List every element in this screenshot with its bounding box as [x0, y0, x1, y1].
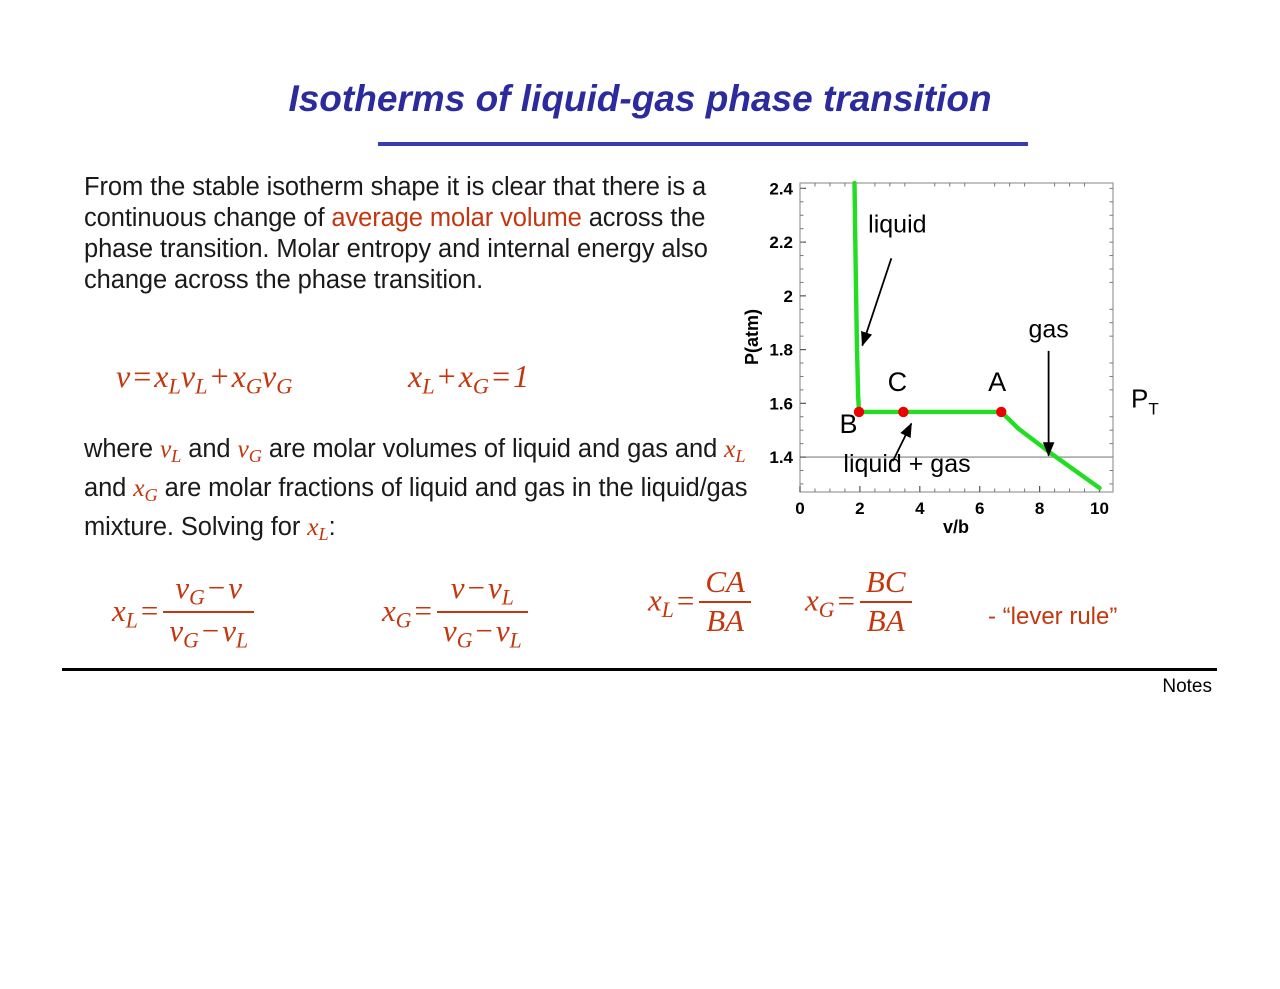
paragraph-definitions: where vL and vG are molar volumes of liq… [84, 433, 764, 550]
eq3-equals: = [138, 593, 161, 628]
x-tick-label: 8 [1035, 499, 1044, 518]
point-label-a: A [988, 367, 1006, 397]
y-axis-label: P(atm) [742, 309, 762, 365]
eq1-x2-sub: G [246, 374, 262, 399]
eq4-den-minus: − [472, 613, 495, 648]
eq3-denominator: vG−vL [163, 613, 254, 654]
eq3-num-vG-sub: G [189, 586, 205, 610]
eq1-v2: v [262, 358, 276, 394]
eq4-den-vG: v [443, 613, 457, 648]
eq5-numerator: CA [699, 564, 751, 603]
eq3-den-vL-sub: L [236, 629, 248, 653]
x-tick-label: 2 [855, 499, 864, 518]
x-tick-label: 6 [975, 499, 984, 518]
page-title: Isotherms of liquid-gas phase transition [0, 78, 1280, 120]
eq5-x: x [648, 583, 662, 618]
equation-xL-volume-fraction: xL=vG−vvG−vL [112, 572, 256, 656]
eq5-denominator: BA [699, 603, 751, 640]
x-tick-label: 0 [795, 499, 804, 518]
point-label-b: B [840, 409, 858, 439]
para2-segment-4: and [84, 474, 133, 502]
x-tick-label: 4 [915, 499, 925, 518]
eq2-one: 1 [513, 358, 529, 394]
eq3-num-minus: − [205, 570, 228, 605]
eq3-den-vG-sub: G [183, 629, 199, 653]
para2-segment-1: where [84, 435, 160, 463]
eq1-v1: v [181, 358, 195, 394]
eq5-x-sub: L [662, 598, 674, 622]
equation-mole-fraction-sum: xL+xG=1 [408, 358, 529, 400]
para2-symbol-vG: v [238, 434, 249, 463]
marker-point-c [898, 407, 908, 417]
eq4-numerator: v−vL [437, 570, 528, 613]
y-tick-label: 2 [784, 287, 793, 306]
eq5-fraction: CABA [699, 564, 751, 639]
eq3-x: x [112, 593, 126, 628]
eq1-x1: x [154, 358, 168, 394]
point-label-c: C [888, 367, 908, 397]
eq2-x2-sub: G [473, 374, 489, 399]
pt-symbol: P [1131, 383, 1148, 413]
lever-rule-caption: - “lever rule” [988, 603, 1117, 631]
para2-symbol-xL: x [724, 434, 735, 463]
eq1-v1-sub: L [195, 374, 207, 399]
para2-symbol-vG-sub: G [249, 446, 262, 466]
eq4-den-vG-sub: G [457, 629, 473, 653]
isotherm-chart: 1.41.61.822.22.4 0246810 BCA liquid gas … [740, 165, 1180, 540]
eq1-x1-sub: L [168, 374, 180, 399]
equation-xL-lever: xL=CABA [648, 566, 753, 641]
eq2-x1: x [408, 358, 422, 394]
eq4-fraction: v−vLvG−vL [437, 570, 528, 654]
eq4-x-sub: G [396, 609, 412, 633]
pt-subscript: T [1148, 399, 1158, 418]
y-tick-label: 1.8 [769, 341, 793, 360]
isotherm-chart-svg: 1.41.61.822.22.4 0246810 BCA liquid gas … [740, 165, 1180, 540]
y-tick-label: 1.4 [769, 448, 793, 467]
eq3-num-v: v [228, 570, 242, 605]
eq4-num-minus: − [465, 570, 488, 605]
para2-symbol-xG: x [133, 473, 144, 502]
eq2-equals: = [489, 358, 513, 394]
eq4-x: x [382, 593, 396, 628]
eq4-equals: = [411, 593, 434, 628]
eq1-equals: = [130, 358, 154, 394]
para2-segment-3: are molar volumes of liquid and gas and [262, 435, 724, 463]
eq6-denominator: BA [860, 603, 912, 640]
x-tick-label: 10 [1090, 499, 1109, 518]
eq1-v: v [116, 358, 130, 394]
eq3-numerator: vG−v [163, 570, 254, 613]
eq6-x-sub: G [819, 598, 835, 622]
eq3-num-vG: v [175, 570, 189, 605]
eq6-fraction: BCBA [860, 564, 912, 639]
x-axis-label: v/b [943, 517, 969, 537]
eq6-numerator: BC [860, 564, 912, 603]
eq4-den-vL-sub: L [510, 629, 522, 653]
annotation-liquid-plus-gas: liquid + gas [843, 450, 970, 478]
y-tick-label: 2.4 [769, 179, 793, 198]
para2-symbol-vL: v [160, 434, 171, 463]
para2-segment-6: : [329, 513, 336, 541]
title-underline-rule [378, 142, 1028, 146]
para2-symbol-xL2: x [307, 512, 318, 541]
equation-xG-lever: xG=BCBA [805, 566, 914, 641]
equation-xG-volume-fraction: xG=v−vLvG−vL [382, 572, 530, 656]
eq2-x1-sub: L [422, 374, 434, 399]
footer-notes-label: Notes [0, 676, 1212, 698]
equation-molar-volume-mixture: v=xLvL+xGvG [116, 358, 292, 400]
eq3-den-vG: v [169, 613, 183, 648]
eq2-plus: + [435, 358, 459, 394]
eq4-den-vL: v [496, 613, 510, 648]
eq4-denominator: vG−vL [437, 613, 528, 654]
eq2-x2: x [459, 358, 473, 394]
eq6-x: x [805, 583, 819, 618]
eq1-plus: + [208, 358, 232, 394]
eq4-num-v: v [451, 570, 465, 605]
marker-point-a [996, 407, 1006, 417]
annotation-liquid: liquid [868, 211, 926, 239]
para2-segment-2: and [181, 435, 237, 463]
para2-symbol-xG-sub: G [144, 485, 157, 505]
eq4-num-vL-sub: L [502, 586, 514, 610]
para2-symbol-xL2-sub: L [318, 524, 328, 544]
eq1-x2: x [232, 358, 246, 394]
para2-symbol-vL-sub: L [171, 446, 181, 466]
paragraph-intro: From the stable isotherm shape it is cle… [84, 172, 724, 296]
para2-segment-5: are molar fractions of liquid and gas in… [84, 474, 747, 541]
footer-divider [62, 668, 1217, 671]
eq3-x-sub: L [126, 609, 138, 633]
paragraph-intro-highlight: average molar volume [331, 204, 581, 232]
y-tick-label: 1.6 [769, 394, 793, 413]
eq3-den-vL: v [222, 613, 236, 648]
eq6-equals: = [834, 583, 857, 618]
eq5-equals: = [674, 583, 697, 618]
annotation-pt-label: PT [1131, 383, 1159, 418]
eq3-fraction: vG−vvG−vL [163, 570, 254, 654]
eq1-v2-sub: G [276, 374, 292, 399]
y-tick-label: 2.2 [769, 233, 793, 252]
annotation-gas: gas [1028, 316, 1068, 344]
eq3-den-minus: − [199, 613, 222, 648]
eq4-num-vL: v [488, 570, 502, 605]
